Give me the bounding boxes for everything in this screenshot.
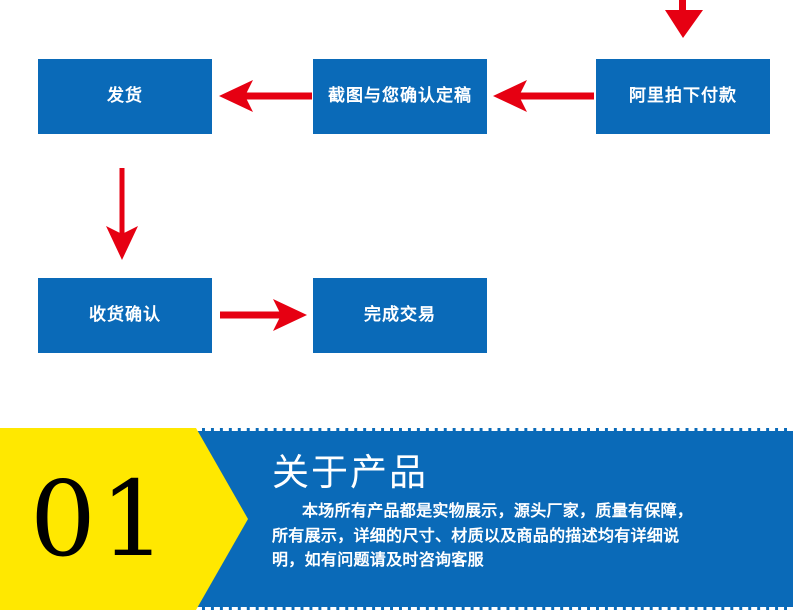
flow-box-label: 收货确认 [89, 307, 161, 324]
flow-box-label: 截图与您确认定稿 [328, 88, 472, 105]
arrow-into-ali-icon [665, 0, 703, 38]
banner-body-line: 明，如有问题请及时咨询客服 [272, 548, 742, 573]
banner-text-group: 关于产品 本场所有产品都是实物展示，源头厂家，质量有保障， 所有展示，详细的尺寸… [272, 454, 742, 573]
flow-box-label: 发货 [107, 88, 143, 105]
banner-number: 01 [0, 428, 200, 610]
flow-box-jietu: 截图与您确认定稿 [313, 59, 487, 134]
banner-body: 本场所有产品都是实物展示，源头厂家，质量有保障， 所有展示，详细的尺寸、材质以及… [272, 499, 742, 573]
banner-yellow-badge: 01 [0, 428, 248, 610]
arrow-ali-to-jietu-icon [493, 80, 594, 112]
arrow-jietu-to-fahuo-icon [219, 80, 312, 112]
arrow-fahuo-to-shouhuo-icon [106, 168, 138, 260]
banner-body-line: 所有展示，详细的尺寸、材质以及商品的描述均有详细说 [272, 524, 742, 549]
flow-box-label: 完成交易 [364, 307, 436, 324]
flow-box-wancheng: 完成交易 [313, 278, 487, 353]
about-product-banner: 01 关于产品 本场所有产品都是实物展示，源头厂家，质量有保障， 所有展示，详细… [0, 428, 800, 614]
flow-box-label: 阿里拍下付款 [629, 88, 737, 105]
arrow-shouhuo-to-wancheng-icon [220, 299, 307, 331]
flow-box-ali: 阿里拍下付款 [596, 59, 770, 134]
page-root: 发货 截图与您确认定稿 阿里拍下付款 收货确认 完成交易 [0, 0, 800, 614]
banner-title: 关于产品 [272, 454, 742, 493]
flow-box-fahuo: 发货 [38, 59, 212, 134]
flow-box-shouhuo: 收货确认 [38, 278, 212, 353]
banner-body-line: 本场所有产品都是实物展示，源头厂家，质量有保障， [272, 499, 742, 524]
